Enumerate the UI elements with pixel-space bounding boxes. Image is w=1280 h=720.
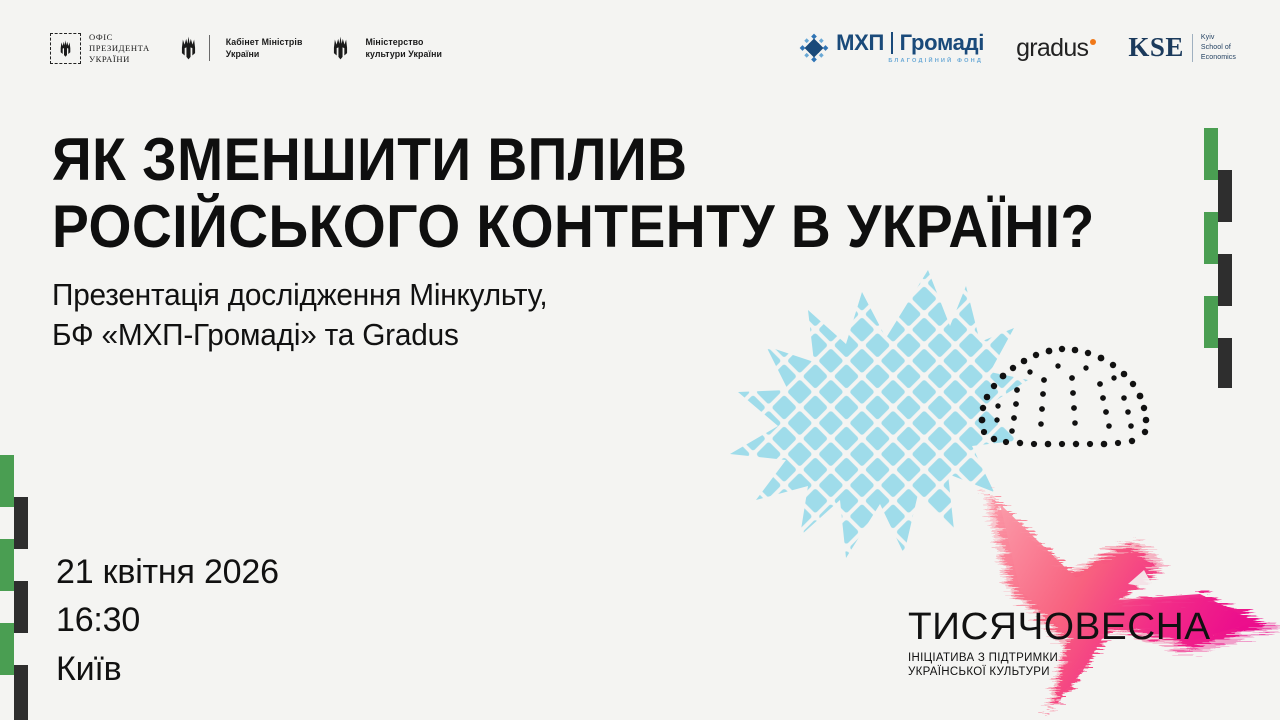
mxp-subtitle: БЛАГОДІЙНИЙ ФОНД	[836, 58, 983, 64]
mxp-divider	[891, 32, 893, 54]
mxp-second-word: Громаді	[900, 32, 984, 54]
dotted-shell-outline	[972, 328, 1167, 453]
pink-gradient-bird	[960, 478, 1280, 720]
mxp-name: МХП	[836, 32, 884, 54]
partner-logos: МХП Громаді БЛАГОДІЙНИЙ ФОНД gradus KSE …	[799, 32, 1236, 64]
orange-dot-icon	[1090, 39, 1096, 45]
logo-text-cabinet: Кабінет Міністрів України	[226, 36, 303, 60]
logo-cabinet-of-ministers: Кабінет Міністрів України	[178, 35, 303, 61]
ukraine-trident-icon	[178, 35, 199, 61]
headline-line-2: РОСІЙСЬКОГО КОНТЕНТУ В УКРАЇНІ?	[52, 193, 1095, 260]
logo-divider	[209, 35, 210, 61]
initiative-name: ТИСЯЧОВЕСНА	[908, 608, 1245, 646]
kse-divider	[1192, 34, 1193, 62]
page-subtitle: Презентація дослідження Мінкульту, БФ «М…	[52, 275, 547, 354]
kse-mark: KSE	[1128, 34, 1184, 61]
logo-office-of-the-president: ОФІС ПРЕЗИДЕНТА УКРАЇНИ	[50, 32, 150, 65]
government-logos: ОФІС ПРЕЗИДЕНТА УКРАЇНИ Кабінет Міністрі…	[50, 32, 442, 65]
kse-subtitle: Kyiv School of Economics	[1201, 33, 1236, 63]
initiative-tagline: ІНІЦІАТИВА З ПІДТРИМКИ УКРАЇНСЬКОЇ КУЛЬТ…	[908, 651, 1238, 680]
ukraine-trident-icon	[330, 35, 351, 61]
logo-text-ministry-culture: Міністерство культури України	[365, 36, 442, 60]
logo-text-president: ОФІС ПРЕЗИДЕНТА УКРАЇНИ	[89, 32, 150, 65]
gradus-name: gradus	[1016, 36, 1088, 61]
ukraine-trident-emblem-icon	[50, 33, 81, 64]
page-title: ЯК ЗМЕНШИТИ ВПЛИВ РОСІЙСЬКОГО КОНТЕНТУ В…	[52, 126, 1185, 260]
event-date: 21 квітня 2026	[56, 548, 279, 596]
event-details: 21 квітня 2026 16:30 Київ	[56, 548, 279, 693]
logo-gradus: gradus	[1016, 36, 1096, 61]
headline-line-1: ЯК ЗМЕНШИТИ ВПЛИВ	[52, 126, 1095, 193]
green-black-ribbon-left	[0, 455, 36, 720]
logo-kse: KSE Kyiv School of Economics	[1128, 33, 1236, 63]
event-city: Київ	[56, 645, 279, 693]
logo-mxp-gromadi: МХП Громаді БЛАГОДІЙНИЙ ФОНД	[799, 32, 984, 64]
mxp-ornament-icon	[799, 33, 829, 63]
poster-canvas: ОФІС ПРЕЗИДЕНТА УКРАЇНИ Кабінет Міністрі…	[0, 0, 1280, 720]
green-black-ribbon-right	[1200, 128, 1236, 388]
event-time: 16:30	[56, 596, 279, 644]
logo-ministry-of-culture: Міністерство культури України	[330, 35, 442, 61]
initiative-lockup: ТИСЯЧОВЕСНА ІНІЦІАТИВА З ПІДТРИМКИ УКРАЇ…	[908, 608, 1238, 680]
mxp-wordmark: МХП Громаді БЛАГОДІЙНИЙ ФОНД	[836, 32, 984, 64]
partner-logo-bar: ОФІС ПРЕЗИДЕНТА УКРАЇНИ Кабінет Міністрі…	[0, 0, 1280, 96]
